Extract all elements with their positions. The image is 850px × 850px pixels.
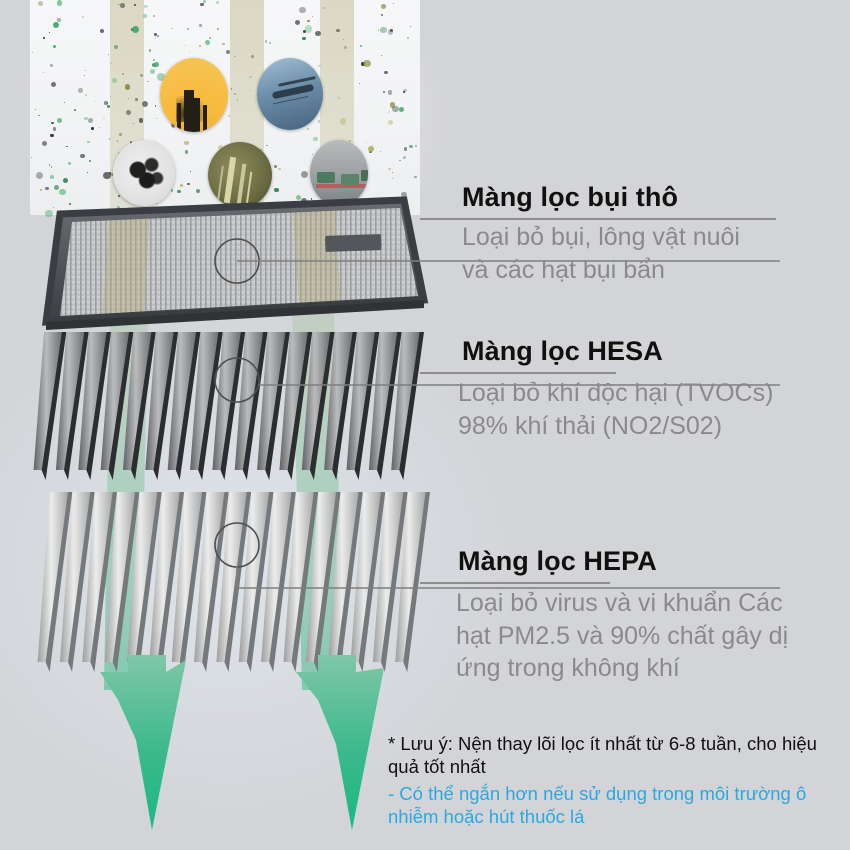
airflow-arrows xyxy=(100,655,384,830)
hepa-filter-body-line: Loại bỏ virus và vi khuẩn Các xyxy=(456,587,850,620)
footnote-primary: * Lưu ý: Nện thay lõi lọc ít nhất từ 6-8… xyxy=(388,732,843,779)
callout-hesa-filter: Màng lọc HESA Loại bỏ khí độc hại (TVOCs… xyxy=(420,336,840,442)
hesa-filter-panel xyxy=(34,332,424,480)
pre-filter-panel xyxy=(40,195,440,330)
footnote-primary-line: quả tốt nhất xyxy=(388,755,843,778)
pre-filter-body-line: Loại bỏ bụi, lông vật nuôi xyxy=(462,221,840,254)
hepa-filter-body: Loại bỏ virus và vi khuẩn Các hạt PM2.5 … xyxy=(420,577,850,685)
hepa-filter-body-line: ứng trong không khí xyxy=(456,652,850,685)
hesa-filter-rule xyxy=(420,372,616,374)
footnote-secondary: - Có thể ngắn hơn nếu sử dụng trong môi … xyxy=(388,782,843,829)
hesa-filter-title: Màng lọc HESA xyxy=(420,336,840,367)
hesa-filter-body-line: 98% khí thải (NO2/S02) xyxy=(458,410,840,443)
pre-filter-body-line: và các hạt bụi bẩn xyxy=(462,254,840,287)
hesa-filter-body: Loại bỏ khí độc hại (TVOCs) 98% khí thải… xyxy=(420,367,840,442)
footnote-primary-line: * Lưu ý: Nện thay lõi lọc ít nhất từ 6-8… xyxy=(388,732,843,755)
hepa-filter-body-line: hạt PM2.5 và 90% chất gây dị xyxy=(456,620,850,653)
hesa-filter-body-line: Loại bỏ khí độc hại (TVOCs) xyxy=(458,377,840,410)
hepa-filter-rule xyxy=(420,582,610,584)
callout-pre-filter: Màng lọc bụi thô Loại bỏ bụi, lông vật n… xyxy=(420,182,840,286)
footnote-secondary-line: - Có thể ngắn hơn nếu sử dụng trong môi … xyxy=(388,782,843,805)
hepa-filter-panel xyxy=(38,492,430,672)
pre-filter-rule xyxy=(420,218,776,220)
infographic-canvas: Màng lọc bụi thô Loại bỏ bụi, lông vật n… xyxy=(0,0,850,850)
hepa-filter-title: Màng lọc HEPA xyxy=(420,546,850,577)
pre-filter-body: Loại bỏ bụi, lông vật nuôi và các hạt bụ… xyxy=(420,213,840,286)
callout-hepa-filter: Màng lọc HEPA Loại bỏ virus và vi khuẩn … xyxy=(420,546,850,685)
pre-filter-title: Màng lọc bụi thô xyxy=(420,182,840,213)
footnote-secondary-line: nhiễm hoặc hút thuốc lá xyxy=(388,805,843,828)
